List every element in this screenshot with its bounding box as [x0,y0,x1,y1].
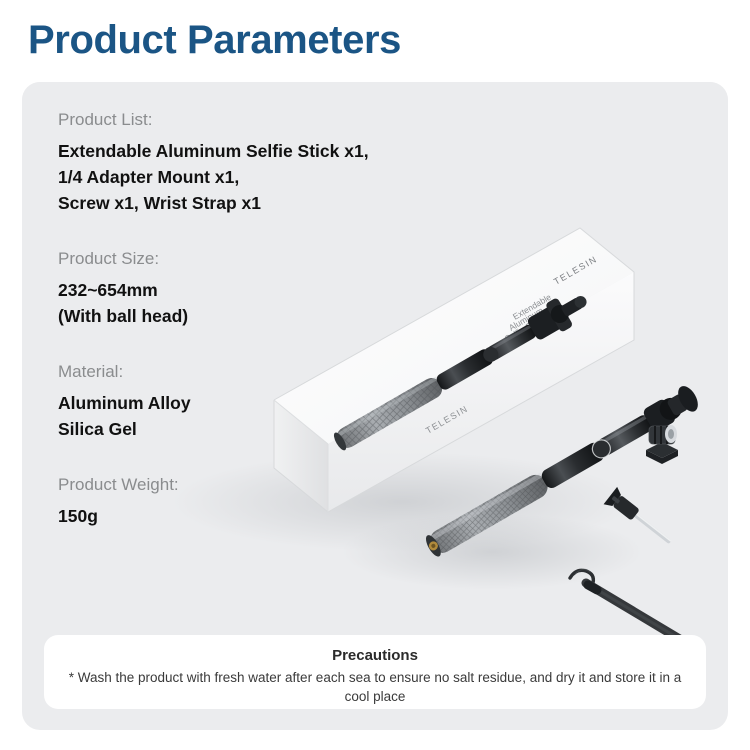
spec-value-product-list: Extendable Aluminum Selfie Stick x1, 1/4… [58,138,478,216]
spec-label-material: Material: [58,359,478,385]
svg-text:TELESIN: TELESIN [552,254,599,287]
spec-label-product-weight: Product Weight: [58,472,478,498]
specifications-card: TELESIN Extendable Aluminum Selfie Stick… [22,82,728,730]
precautions-box: Precautions * Wash the product with fres… [44,635,706,709]
spec-label-product-list: Product List: [58,107,478,133]
spec-group-material: Material: Aluminum Alloy Silica Gel [58,359,478,442]
svg-text:Extendable: Extendable [511,292,553,322]
spec-value-material: Aluminum Alloy Silica Gel [58,390,478,442]
spec-value-product-size: 232~654mm (With ball head) [58,277,478,329]
spec-list: Product List: Extendable Aluminum Selfie… [58,107,478,551]
spec-label-product-size: Product Size: [58,246,478,272]
page-title: Product Parameters [28,16,401,64]
spec-group-product-list: Product List: Extendable Aluminum Selfie… [58,107,478,216]
svg-text:Selfie Stick: Selfie Stick [503,314,545,344]
precautions-text: * Wash the product with fresh water afte… [62,668,688,706]
spec-group-product-size: Product Size: 232~654mm (With ball head) [58,246,478,329]
svg-text:Aluminum: Aluminum [507,305,545,333]
precautions-title: Precautions [62,645,688,667]
spec-value-product-weight: 150g [58,503,478,529]
spec-group-product-weight: Product Weight: 150g [58,472,478,529]
